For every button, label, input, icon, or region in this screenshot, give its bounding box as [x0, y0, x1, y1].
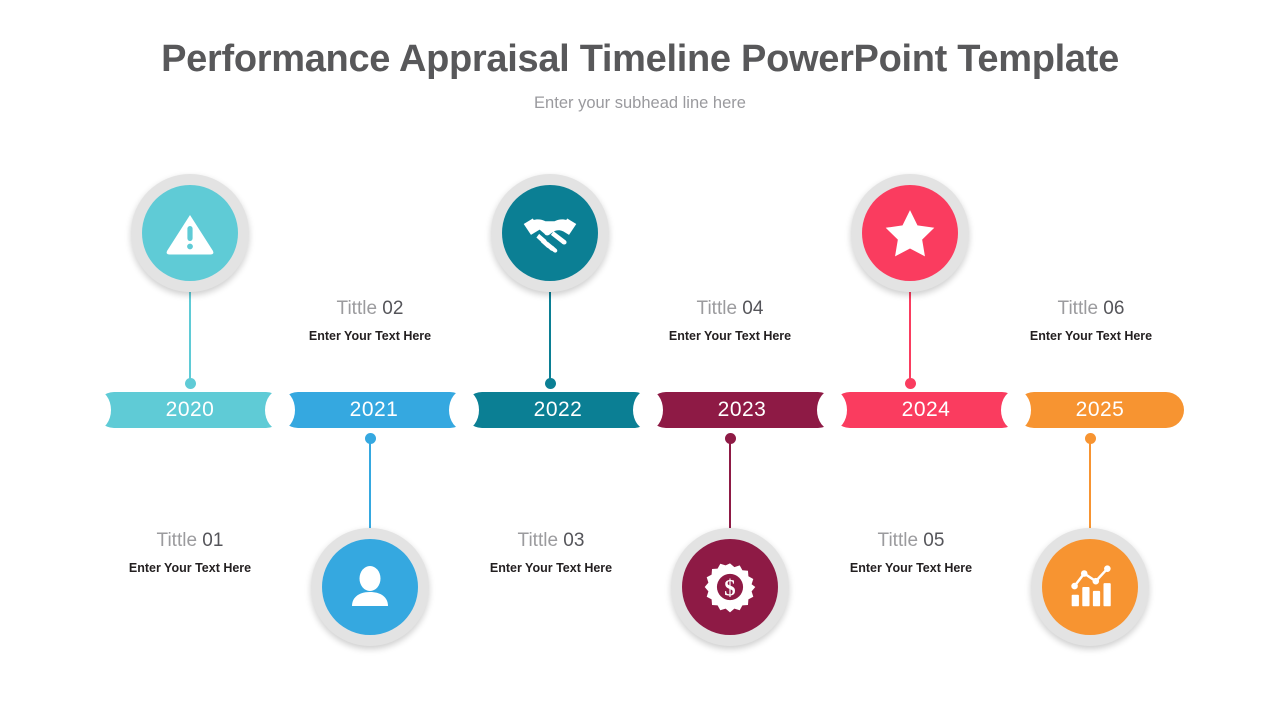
icon-circle-6[interactable]	[1031, 528, 1149, 646]
timeline-segment-2020[interactable]: 2020	[96, 392, 284, 428]
label-title-number: 01	[202, 530, 223, 551]
label-title-number: 05	[923, 530, 944, 551]
label-title-number: 06	[1103, 298, 1124, 319]
label-subtext-5: Enter Your Text Here	[801, 561, 1021, 575]
timeline-segment-2022[interactable]: 2022	[464, 392, 652, 428]
icon-inner-disc	[1042, 539, 1138, 635]
segment-year-label: 2022	[534, 398, 583, 422]
connector-line-1	[189, 292, 191, 384]
svg-text:$: $	[724, 575, 735, 600]
label-block-1: Tittle 01 Enter Your Text Here	[80, 531, 300, 575]
label-block-6: Tittle 06 Enter Your Text Here	[981, 299, 1201, 343]
label-title-word: Tittle	[1058, 298, 1098, 319]
connector-dot-3	[545, 378, 556, 389]
connector-dot-2	[365, 433, 376, 444]
segment-year-label: 2021	[350, 398, 399, 422]
connector-dot-6	[1085, 433, 1096, 444]
timeline-segment-2021[interactable]: 2021	[280, 392, 468, 428]
label-subtext-6: Enter Your Text Here	[981, 329, 1201, 343]
slide-header: Performance Appraisal Timeline PowerPoin…	[0, 38, 1280, 113]
label-title-number: 02	[382, 298, 403, 319]
connector-line-2	[369, 438, 371, 530]
page-title: Performance Appraisal Timeline PowerPoin…	[0, 38, 1280, 82]
warning-icon	[164, 207, 216, 259]
timeline-segment-2025[interactable]: 2025	[1016, 392, 1184, 428]
segment-notch	[449, 390, 479, 430]
icon-circle-4[interactable]: $	[671, 528, 789, 646]
label-title-2: Tittle 02	[260, 299, 480, 320]
label-title-word: Tittle	[878, 530, 918, 551]
label-title-number: 03	[563, 530, 584, 551]
icon-inner-disc: $	[682, 539, 778, 635]
timeline-segment-2023[interactable]: 2023	[648, 392, 836, 428]
icon-circle-2[interactable]	[311, 528, 429, 646]
icon-inner-disc	[322, 539, 418, 635]
label-subtext-1: Enter Your Text Here	[80, 561, 300, 575]
label-title-word: Tittle	[337, 298, 377, 319]
icon-inner-disc	[862, 185, 958, 281]
user-icon	[344, 561, 396, 613]
icon-circle-3[interactable]	[491, 174, 609, 292]
label-title-4: Tittle 04	[620, 299, 840, 320]
label-subtext-4: Enter Your Text Here	[620, 329, 840, 343]
label-title-word: Tittle	[697, 298, 737, 319]
connector-line-3	[549, 292, 551, 384]
connector-line-4	[729, 438, 731, 530]
icon-circle-5[interactable]	[851, 174, 969, 292]
label-block-4: Tittle 04 Enter Your Text Here	[620, 299, 840, 343]
label-title-3: Tittle 03	[441, 531, 661, 552]
label-title-number: 04	[742, 298, 763, 319]
connector-dot-5	[905, 378, 916, 389]
icon-inner-disc	[142, 185, 238, 281]
handshake-icon	[521, 204, 579, 262]
segment-year-label: 2025	[1076, 398, 1125, 422]
icon-inner-disc	[502, 185, 598, 281]
segment-year-label: 2023	[718, 398, 767, 422]
label-title-6: Tittle 06	[981, 299, 1201, 320]
label-title-1: Tittle 01	[80, 531, 300, 552]
connector-line-5	[909, 292, 911, 384]
label-title-5: Tittle 05	[801, 531, 1021, 552]
segment-notch	[817, 390, 847, 430]
label-title-word: Tittle	[518, 530, 558, 551]
connector-dot-4	[725, 433, 736, 444]
segment-notch	[1001, 390, 1031, 430]
icon-circle-1[interactable]	[131, 174, 249, 292]
segment-notch	[81, 390, 111, 430]
label-title-word: Tittle	[157, 530, 197, 551]
segment-year-label: 2020	[166, 398, 215, 422]
timeline-segment-2024[interactable]: 2024	[832, 392, 1020, 428]
timeline-bar: 2020 2021 2022 2023 2024 2025	[96, 392, 1184, 428]
label-block-3: Tittle 03 Enter Your Text Here	[441, 531, 661, 575]
gear-dollar-icon: $	[703, 560, 757, 614]
segment-notch	[633, 390, 663, 430]
bar-chart-icon	[1063, 560, 1117, 614]
segment-notch	[265, 390, 295, 430]
page-subhead: Enter your subhead line here	[0, 94, 1280, 113]
label-subtext-3: Enter Your Text Here	[441, 561, 661, 575]
connector-line-6	[1089, 438, 1091, 530]
star-icon	[883, 206, 937, 260]
segment-year-label: 2024	[902, 398, 951, 422]
label-block-2: Tittle 02 Enter Your Text Here	[260, 299, 480, 343]
label-block-5: Tittle 05 Enter Your Text Here	[801, 531, 1021, 575]
connector-dot-1	[185, 378, 196, 389]
label-subtext-2: Enter Your Text Here	[260, 329, 480, 343]
